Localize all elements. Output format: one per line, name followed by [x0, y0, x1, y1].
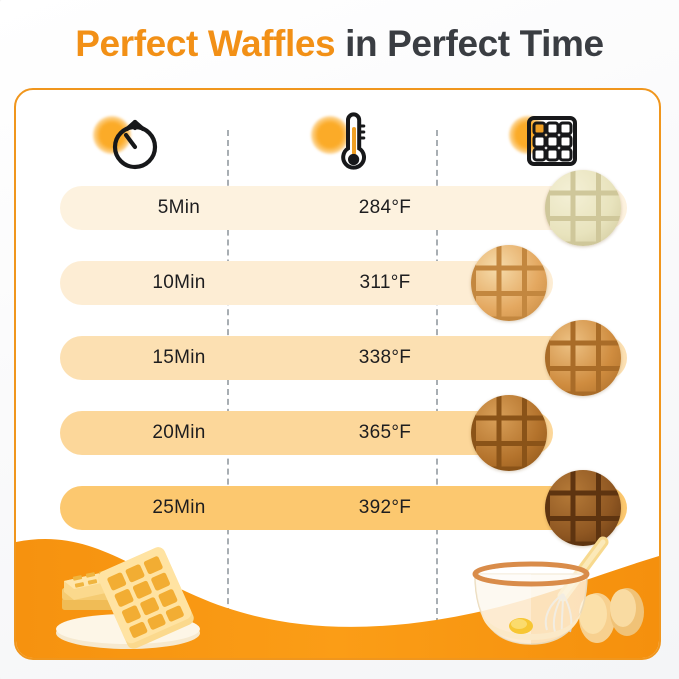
egg-group — [579, 588, 644, 643]
cell-time: 10Min — [104, 261, 254, 305]
cell-time: 20Min — [104, 411, 254, 455]
cell-temperature: 338°F — [300, 336, 470, 380]
waffle-grid-icon — [523, 112, 581, 170]
waffle-very-light — [545, 170, 621, 246]
waffle-light-golden — [471, 245, 547, 321]
cell-time: 15Min — [104, 336, 254, 380]
table-row: 15Min338°F — [60, 336, 627, 380]
cell-temperature: 284°F — [300, 186, 470, 230]
column-header-time — [91, 112, 181, 174]
infographic-card: 5Min284°F10Min311°F15Min338°F20Min365°F2… — [14, 88, 661, 660]
waffle-golden — [545, 320, 621, 396]
mixing-bowl-art — [451, 534, 651, 652]
title-accent-text: Perfect Waffles — [75, 23, 335, 64]
page-title: Perfect Waffles in Perfect Time — [0, 23, 679, 65]
stacked-waffles-art — [36, 540, 216, 652]
thermometer-icon — [325, 112, 381, 174]
table-row: 5Min284°F — [60, 186, 627, 230]
table-row: 20Min365°F — [60, 411, 553, 455]
column-header-result — [507, 112, 597, 174]
column-header-temperature — [309, 112, 399, 174]
stopwatch-icon — [107, 112, 163, 172]
cell-temperature: 365°F — [300, 411, 470, 455]
cell-temperature: 311°F — [300, 261, 470, 305]
waffle-deep-brown — [471, 395, 547, 471]
title-plain-text: in Perfect Time — [335, 23, 603, 64]
table-row: 10Min311°F — [60, 261, 553, 305]
cell-time: 5Min — [104, 186, 254, 230]
